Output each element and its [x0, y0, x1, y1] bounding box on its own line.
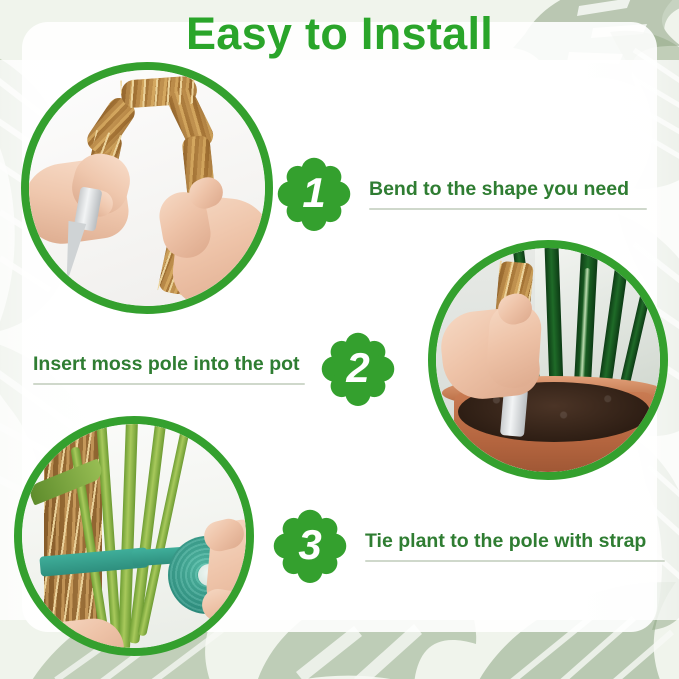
step-2-number: 2 — [321, 332, 395, 406]
step-1-underline — [369, 208, 647, 210]
page-title: Easy to Install — [0, 8, 679, 60]
step-2-photo — [428, 240, 668, 480]
step-1-photo — [21, 62, 273, 314]
step-1-text-block: Bend to the shape you need — [351, 178, 647, 209]
step-1-badge: 1 — [277, 157, 351, 231]
step-3-label: Tie plant to the pole with strap — [365, 530, 665, 552]
step-row-2: 2 Insert moss pole into the pot — [33, 332, 395, 406]
step-1-label: Bend to the shape you need — [369, 178, 647, 200]
step-2-badge: 2 — [321, 332, 395, 406]
infographic-canvas: Easy to Install — [0, 0, 679, 679]
step-row-3: 3 Tie plant to the pole with strap — [273, 509, 665, 583]
step-2-underline — [33, 383, 305, 385]
step-3-text-block: Tie plant to the pole with strap — [347, 530, 665, 561]
step-1-number: 1 — [277, 157, 351, 231]
step-3-underline — [365, 560, 665, 562]
step-row-1: 1 Bend to the shape you need — [277, 157, 647, 231]
step-3-photo — [14, 416, 254, 656]
step-2-text-block: Insert moss pole into the pot — [33, 353, 321, 384]
step-2-label: Insert moss pole into the pot — [33, 353, 305, 375]
coir-rope-winding-top — [120, 75, 198, 108]
step-3-badge: 3 — [273, 509, 347, 583]
step-3-number: 3 — [273, 509, 347, 583]
